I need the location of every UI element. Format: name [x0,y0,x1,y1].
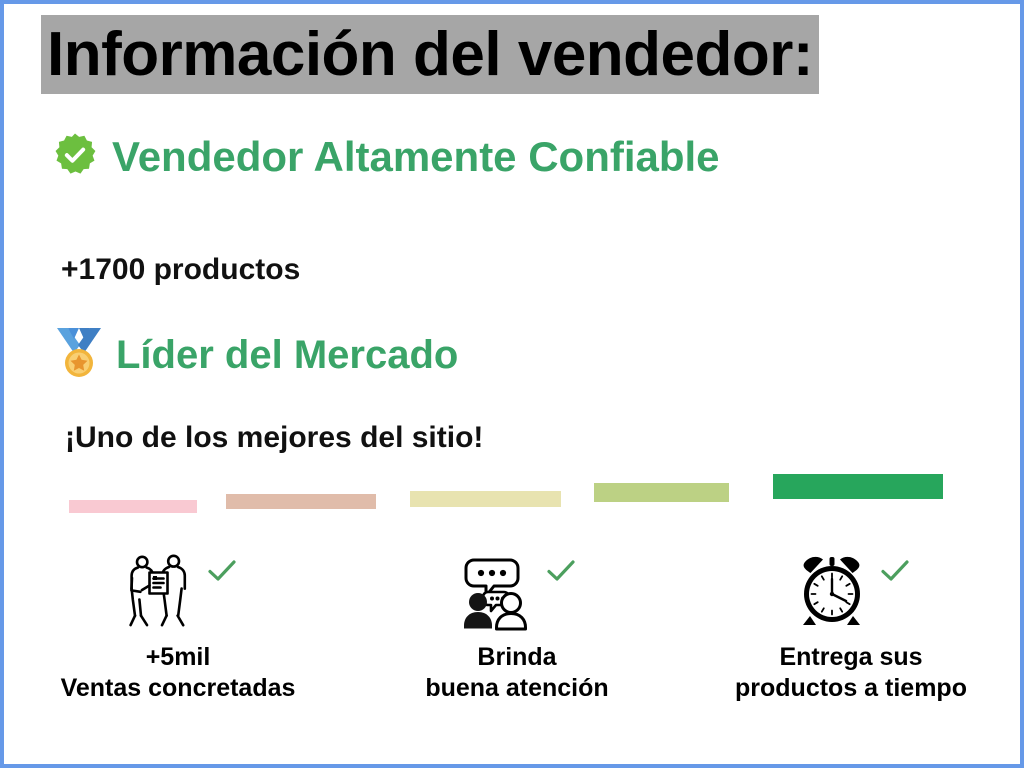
trusted-seller-row: Vendedor Altamente Confiable [52,129,720,185]
page-title-text: Información del vendedor: [41,15,819,94]
feature-sales-icon-row [4,552,352,642]
check-icon [207,558,237,589]
feature-attention-icon-row [352,552,682,642]
reputation-thermometer [4,459,1020,519]
feature-attention: Brinda buena atención [352,552,682,704]
feature-delivery: Entrega sus productos a tiempo [682,552,1020,704]
feature-delivery-top-label: Entrega sus [682,642,1020,673]
best-of-site-label: ¡Uno de los mejores del sitio! [65,418,483,458]
feature-attention-caption: buena atención [352,673,682,704]
feature-sales-caption: Ventas concretadas [4,673,352,704]
alarm-clock-icon [792,552,876,639]
feature-attention-top-label: Brinda [352,642,682,673]
chat-people-icon [458,552,542,641]
trusted-seller-label: Vendedor Altamente Confiable [112,129,720,185]
reputation-bar-level-3 [410,491,561,507]
products-count-label: +1700 productos [61,250,300,290]
check-icon [546,558,576,589]
verified-badge-icon [52,132,98,183]
reputation-bar-level-2 [226,494,376,509]
seller-info-card: Información del vendedor: Vendedor Altam… [4,4,1020,764]
check-icon [880,558,910,589]
feature-delivery-caption: productos a tiempo [682,673,1020,704]
market-leader-label: Líder del Mercado [116,328,458,382]
medal-icon [54,326,104,383]
reputation-bar-level-1 [69,500,197,513]
reputation-bar-level-5 [773,474,943,499]
feature-delivery-icon-row [682,552,1020,642]
reputation-bar-level-4 [594,483,729,502]
market-leader-row: Líder del Mercado [54,326,458,383]
handshake-package-icon [119,552,203,641]
feature-sales-top-label: +5mil [4,642,352,673]
page-title: Información del vendedor: [41,15,993,94]
feature-row: +5mil Ventas concretadas [4,552,1020,722]
feature-sales: +5mil Ventas concretadas [4,552,352,704]
